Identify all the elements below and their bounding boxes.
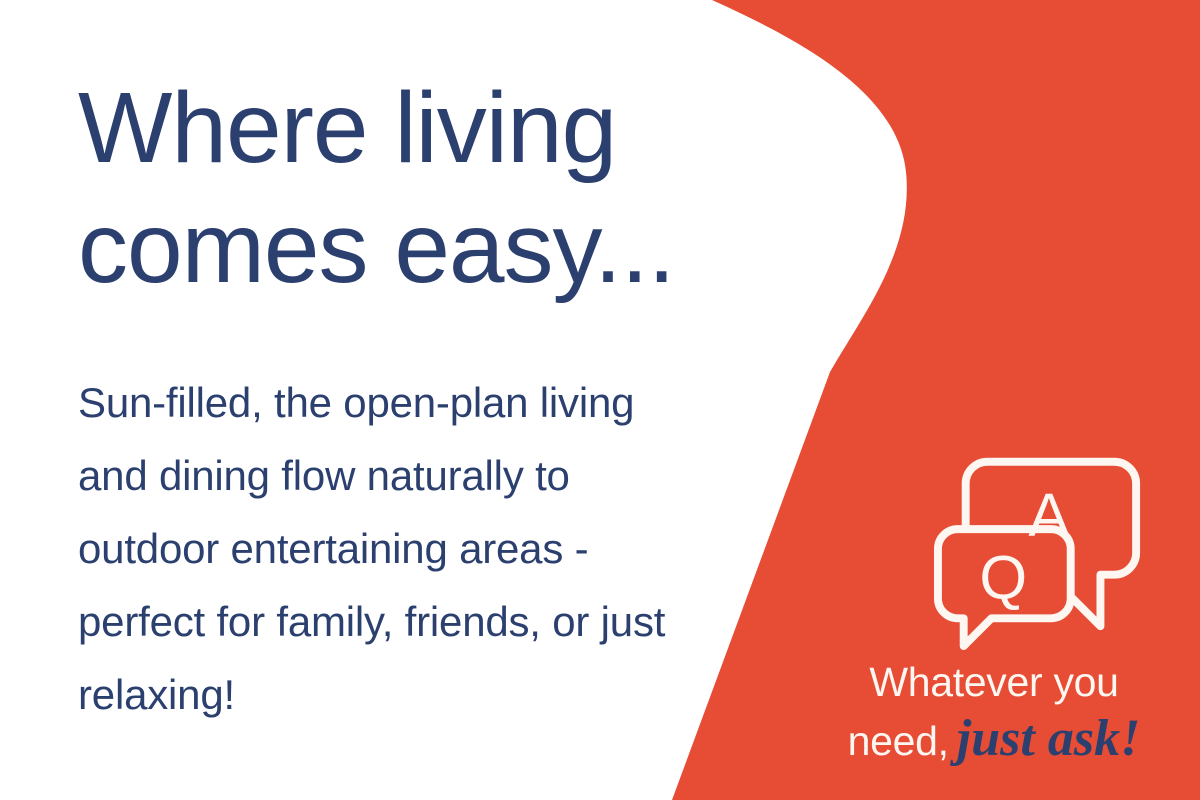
- question-letter: Q: [979, 543, 1027, 612]
- tagline-line-1: Whatever you: [810, 655, 1178, 710]
- tagline-emphasis: just ask!: [949, 710, 1141, 767]
- tagline: Whatever you need,just ask!: [810, 655, 1178, 780]
- promo-banner: Where living comes easy... Sun-filled, t…: [0, 0, 1200, 800]
- editorial-text-column: Where living comes easy... Sun-filled, t…: [78, 68, 718, 731]
- answer-letter: A: [1028, 481, 1069, 550]
- body-copy: Sun-filled, the open-plan living and din…: [78, 308, 708, 731]
- tagline-line-2: need,just ask!: [810, 710, 1178, 780]
- ask-callout-panel: A Q Whatever you need,just ask!: [810, 420, 1200, 800]
- page-title: Where living comes easy...: [78, 68, 718, 308]
- tagline-line-2-prefix: need,: [848, 718, 949, 764]
- qa-speech-bubbles-icon: A Q: [930, 432, 1148, 650]
